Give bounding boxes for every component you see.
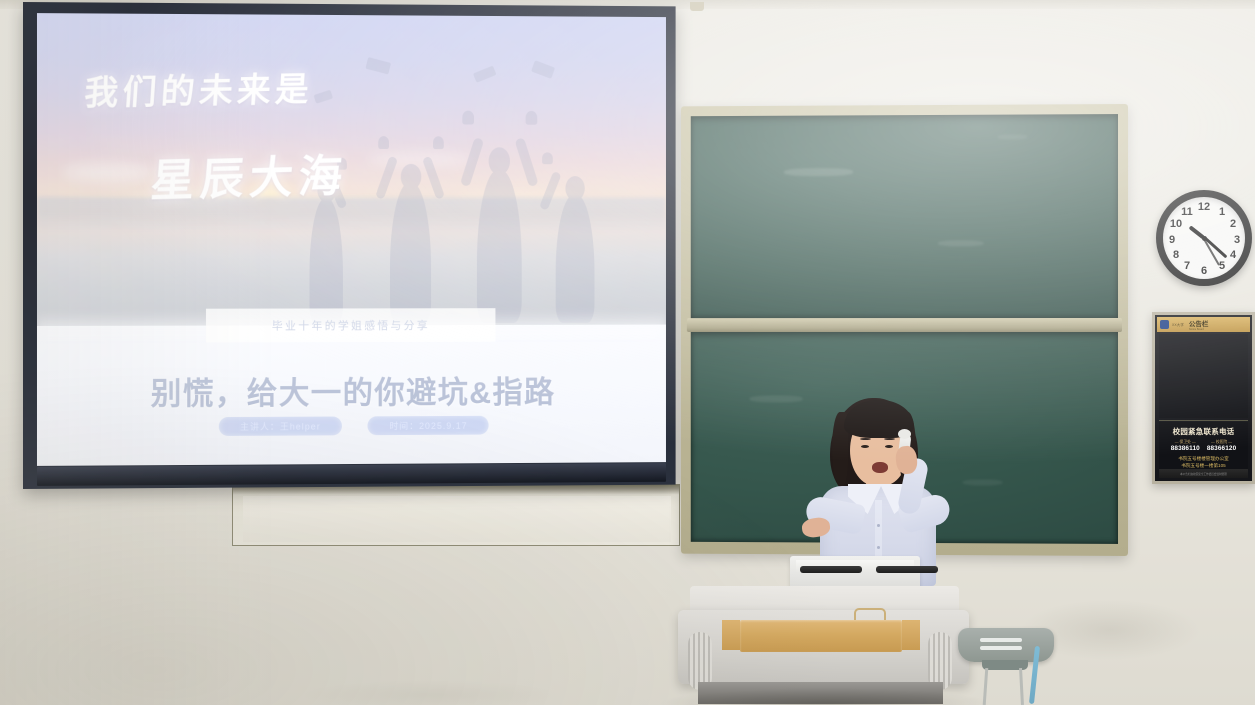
graduate-gown xyxy=(390,183,431,324)
graduate-hand xyxy=(525,111,537,125)
clock-numeral-9: 9 xyxy=(1165,235,1179,246)
projection-screen[interactable]: 我们的未来是 星辰大海 毕业十年的学姐感悟与分享 别慌，给大一的你避坑&指路 主… xyxy=(23,2,676,489)
lectern-mic-bar-left xyxy=(800,566,862,573)
emergency-contact-number: 88366120 xyxy=(1207,445,1236,452)
notice-board-divider xyxy=(1159,420,1248,421)
emergency-contact-item: — 保卫处 — 88386110 xyxy=(1171,440,1200,452)
clock-numeral-3: 3 xyxy=(1230,235,1244,246)
clock-center-hub xyxy=(1202,236,1207,241)
graduate-arm xyxy=(539,171,562,211)
chalk-smudge xyxy=(938,241,984,247)
slide-badge-presenter: 主讲人：王helper xyxy=(218,417,342,436)
graduate-gown xyxy=(477,170,522,324)
presenter-eye-right xyxy=(885,445,893,448)
chair-backrest xyxy=(958,628,1054,662)
wall-smudge xyxy=(300,680,560,705)
notice-board-posting-area[interactable] xyxy=(1159,334,1248,418)
projected-slide: 我们的未来是 星辰大海 毕业十年的学姐感悟与分享 别慌，给大一的你避坑&指路 主… xyxy=(37,13,666,466)
presenter-eyebrow-left xyxy=(860,438,871,440)
clock-numeral-6: 6 xyxy=(1197,266,1211,277)
chalk-smudge xyxy=(784,168,853,176)
chalk-smudge xyxy=(998,135,1028,140)
emergency-address-line-1: 书院五号楼楼管理办公室 xyxy=(1159,456,1248,463)
slide-calligraphy-line-2: 星辰大海 xyxy=(149,140,351,209)
graduate-arm xyxy=(422,156,445,200)
chair-leg xyxy=(1019,668,1024,705)
notice-board-body: XX大学 公告栏 Notice Board 校园紧急联系电话 — 保卫处 — 8… xyxy=(1155,315,1252,481)
emergency-contact-number: 88386110 xyxy=(1171,445,1200,452)
graduate-hand xyxy=(542,152,553,164)
whiteboard-surface xyxy=(243,496,671,542)
lectern-wood-edge-left xyxy=(722,620,740,650)
chalk-smudge xyxy=(963,480,1003,486)
mortarboard-cap xyxy=(365,57,391,74)
notice-board-title: 公告栏 xyxy=(1189,318,1209,328)
graduate-arm xyxy=(514,137,538,187)
chair-backrest-slot xyxy=(980,646,1022,650)
lectern-wood-edge-right xyxy=(902,620,920,650)
slide-subtitle-strip: 毕业十年的学姐感悟与分享 xyxy=(206,308,495,342)
mortarboard-cap xyxy=(313,90,333,104)
graduate-figure xyxy=(461,75,539,323)
clock-face: 12 1 2 3 4 5 6 7 8 9 10 11 xyxy=(1163,197,1245,279)
clock-numeral-4: 4 xyxy=(1226,250,1240,261)
wall-clock: 12 1 2 3 4 5 6 7 8 9 10 11 xyxy=(1156,190,1252,286)
clock-numeral-10: 10 xyxy=(1169,219,1183,230)
notice-board[interactable]: XX大学 公告栏 Notice Board 校园紧急联系电话 — 保卫处 — 8… xyxy=(1152,312,1255,484)
graduate-arm xyxy=(460,137,484,187)
clock-numeral-8: 8 xyxy=(1169,250,1183,261)
clock-numeral-12: 12 xyxy=(1197,202,1211,213)
emergency-heading: 校园紧急联系电话 xyxy=(1159,426,1248,437)
university-logo-icon xyxy=(1160,320,1169,329)
chalkboard-middle-rail xyxy=(687,318,1122,332)
cloud xyxy=(63,163,153,181)
lectern-floor-shadow xyxy=(660,688,990,705)
graduate-head xyxy=(488,147,509,175)
graduate-head xyxy=(401,164,422,190)
chalkboard-upper-panel[interactable] xyxy=(691,114,1118,318)
lectern-mic-bar-right xyxy=(876,566,938,573)
clock-numeral-7: 7 xyxy=(1180,261,1194,272)
classroom-scene: 我们的未来是 星辰大海 毕业十年的学姐感悟与分享 别慌，给大一的你避坑&指路 主… xyxy=(0,0,1255,705)
slide-subtitle-text: 毕业十年的学姐感悟与分享 xyxy=(272,317,430,333)
notice-board-title-en: Notice Board xyxy=(1189,328,1209,331)
presenter-mouth xyxy=(872,462,888,473)
lectern-monitor[interactable] xyxy=(790,556,920,590)
presenter-shirt-button xyxy=(877,524,880,527)
screen-mount-bracket xyxy=(690,2,704,11)
notice-board-header: XX大学 公告栏 Notice Board xyxy=(1157,317,1250,332)
lectern[interactable] xyxy=(674,556,971,705)
slide-badge-date: 时间：2025.9.17 xyxy=(368,416,489,435)
graduate-figure xyxy=(542,129,608,324)
graduate-figure xyxy=(376,110,446,323)
clock-numeral-11: 11 xyxy=(1180,207,1194,218)
clock-numeral-1: 1 xyxy=(1215,207,1229,218)
notice-board-footer: 本公告栏由校园安全工作委员会监制管理 xyxy=(1159,469,1248,478)
screen-bottom-bar xyxy=(37,463,666,486)
lectern-wood-front-panel xyxy=(740,620,902,652)
graduate-head xyxy=(565,176,584,201)
presenter-eyebrow-right xyxy=(884,438,895,440)
emergency-contact-panel: 校园紧急联系电话 — 保卫处 — 88386110 — 校医院 — 883661… xyxy=(1159,422,1248,469)
clock-numeral-2: 2 xyxy=(1226,219,1240,230)
graduate-hand xyxy=(433,136,444,149)
presenter-eye-left xyxy=(861,445,869,448)
graduate-gown xyxy=(556,195,595,323)
graduate-gown xyxy=(310,199,343,324)
slide-headline: 别慌，给大一的你避坑&指路 xyxy=(37,366,666,413)
chair-backrest-slot xyxy=(980,638,1022,642)
microphone-head-icon xyxy=(898,429,911,439)
emergency-contact-row: — 保卫处 — 88386110 — 校医院 — 88366120 xyxy=(1159,440,1248,452)
whiteboard-panel xyxy=(232,484,680,546)
slide-calligraphy-line-1: 我们的未来是 xyxy=(83,62,315,115)
slide-badge-row: 主讲人：王helper 时间：2025.9.17 xyxy=(37,415,666,437)
graduate-hand xyxy=(378,136,389,149)
notice-board-org: XX大学 xyxy=(1172,322,1184,327)
graduate-hand xyxy=(462,111,474,125)
graduate-arm xyxy=(375,156,398,200)
emergency-contact-item: — 校医院 — 88366120 xyxy=(1207,440,1236,452)
presenter-shirt-button xyxy=(877,546,880,549)
